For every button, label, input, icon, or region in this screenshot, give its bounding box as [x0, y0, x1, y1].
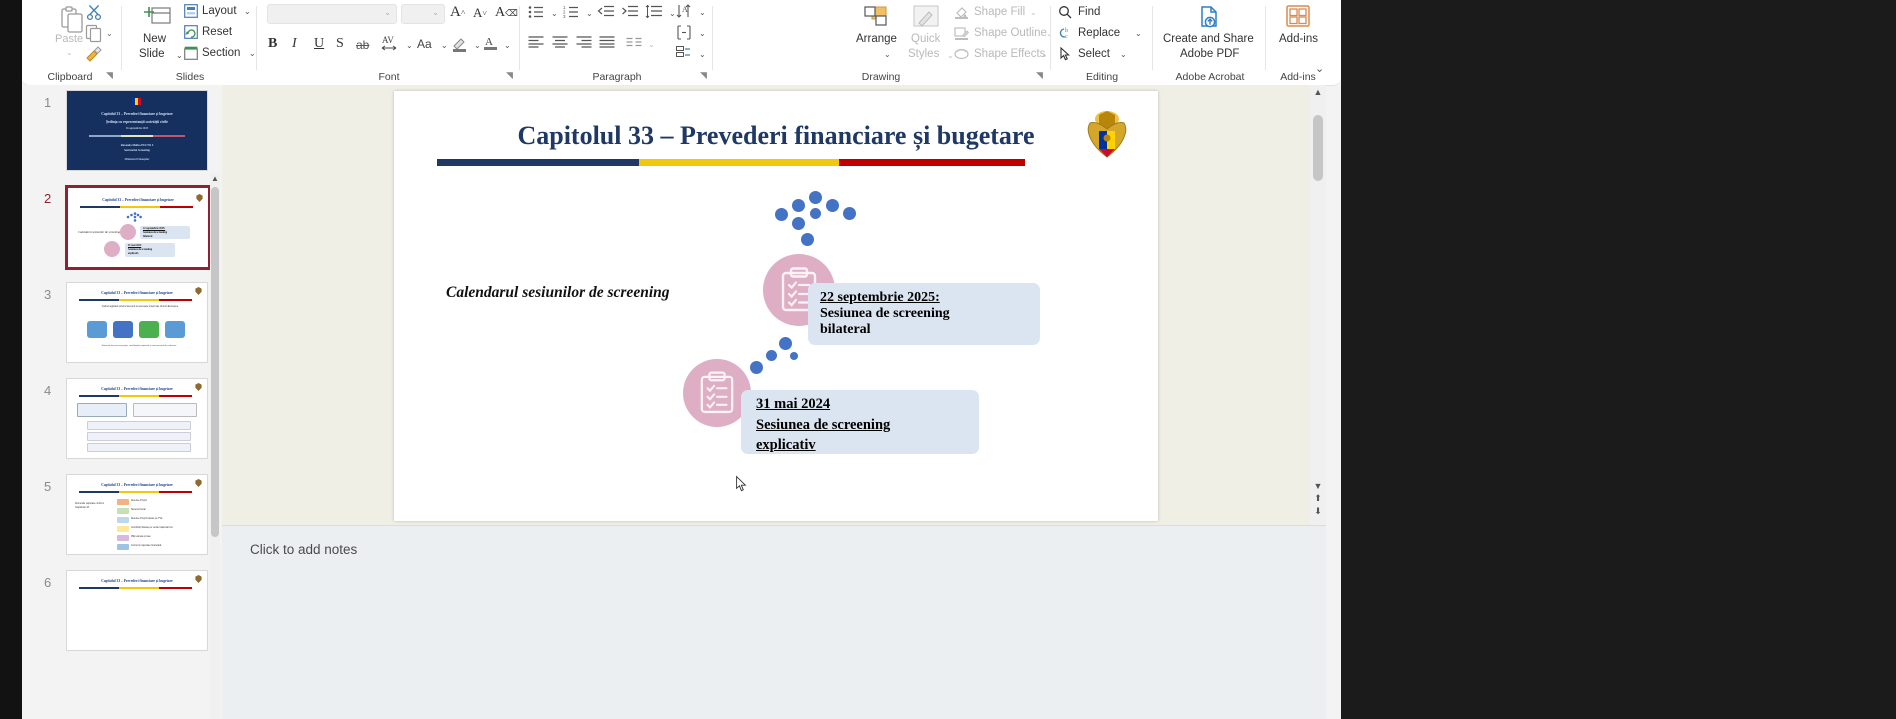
thumbnail-3-title: Capitolul 33 – Prevederi financiare și b… [77, 291, 197, 296]
thumbnail-number-2: 2 [44, 191, 51, 206]
underline-button[interactable]: U [314, 36, 324, 52]
add-ins-icon[interactable] [1285, 5, 1311, 29]
thumbnail-scroll-thumb[interactable] [211, 187, 219, 537]
thumbnail-row-1[interactable]: 1 Capitolul 33 – Prevederi financiare și… [22, 85, 222, 180]
bullets-icon[interactable] [528, 5, 544, 19]
shape-effects-label[interactable]: Shape Effects [974, 48, 1045, 60]
italic-button[interactable]: I [292, 36, 297, 52]
arrange-chevron-icon[interactable]: ⌄ [884, 50, 891, 59]
thumbnail-number-6: 6 [44, 575, 51, 590]
cut-icon[interactable] [86, 4, 103, 21]
meeting-panel: Elena Coban ? Neverificat [1341, 0, 1896, 719]
moldova-coat-of-arms-icon [1084, 107, 1130, 163]
ribbon-group-clipboard: Paste ⌄ ⌄ Clipboard ◥ [22, 0, 118, 85]
align-text-icon[interactable] [676, 25, 692, 40]
new-slide-label-line2: Slide [139, 48, 165, 60]
align-text-chevron-icon[interactable]: ⌄ [699, 29, 706, 38]
numbering-chevron-icon[interactable]: ⌄ [586, 9, 593, 18]
reset-icon[interactable] [184, 25, 198, 39]
thumbnail-6-title: Capitolul 33 – Prevederi financiare și b… [77, 579, 197, 584]
thumbnail-slide-6[interactable]: Capitolul 33 – Prevederi financiare și b… [66, 570, 208, 651]
ribbon-group-acrobat: Create and Share Adobe PDF Adobe Acrobat [1156, 0, 1264, 85]
shape-outline-label[interactable]: Shape Outline [974, 27, 1047, 39]
thumbnail-row-3[interactable]: 3 Capitolul 33 – Prevederi financiare și… [22, 277, 222, 372]
shrink-font-icon[interactable]: A˅ [473, 5, 487, 21]
svg-text:3: 3 [563, 14, 566, 19]
thumbnail-5-title: Capitolul 33 – Prevederi financiare și b… [77, 483, 197, 488]
ribbon-group-slides: New Slide ⌄ Layout ⌄ Reset Section ⌄ Sli… [127, 0, 253, 85]
ribbon-group-label-font: Font [262, 71, 516, 83]
add-ins-label[interactable]: Add-ins [1279, 33, 1318, 45]
quick-styles-label-line2[interactable]: Styles [908, 48, 939, 60]
arrange-icon[interactable] [863, 5, 891, 29]
slide-vertical-scrollbar[interactable]: ▲ ▼ ⬆ ⬇ [1310, 85, 1326, 525]
thumbnail-1-footer3: Ministerul Finanțelor [77, 158, 197, 162]
font-dialog-launcher[interactable]: ◥ [506, 70, 513, 81]
slide-title[interactable]: Capitolul 33 – Prevederi financiare și b… [394, 121, 1158, 151]
bold-button[interactable]: B [268, 36, 277, 52]
replace-chevron-icon[interactable]: ⌄ [1135, 29, 1142, 38]
ribbon-divider [256, 6, 257, 70]
scroll-thumb[interactable] [1313, 115, 1323, 181]
screen: Paste ⌄ ⌄ Clipboard ◥ [0, 0, 1896, 719]
thumbnail-slide-2[interactable]: Capitolul 33 – Prevederi financiare și b… [65, 185, 211, 270]
thumbnail-row-2[interactable]: 2 Capitolul 33 – Prevederi financiare și… [22, 181, 222, 276]
thumbnail-1-date: 16 septembrie 2025 [77, 127, 197, 131]
replace-label[interactable]: Replace [1078, 27, 1120, 39]
thumbnail-1-subtitle: Ședința cu reprezentanții societății civ… [77, 120, 197, 125]
clipboard-options-chevron-icon[interactable]: ⌄ [106, 29, 113, 38]
ribbon: Paste ⌄ ⌄ Clipboard ◥ [22, 0, 1341, 86]
thumbnail-2-title: Capitolul 33 – Prevederi financiare și b… [78, 198, 198, 203]
new-slide-icon[interactable] [144, 5, 172, 31]
thumbnail-1-title: Capitolul 33 – Prevederi financiare și b… [77, 112, 197, 117]
text-shadow-button[interactable]: S [336, 36, 344, 52]
justify-icon[interactable] [599, 36, 615, 48]
thumbnail-number-5: 5 [44, 479, 51, 494]
format-painter-icon[interactable] [85, 45, 103, 63]
text-direction-icon[interactable]: A [676, 4, 692, 19]
title-rule-blue [437, 159, 639, 166]
ribbon-group-label-acrobat: Adobe Acrobat [1156, 71, 1264, 83]
shape-fill-chevron-icon[interactable]: ⌄ [1030, 8, 1037, 17]
character-spacing-chevron-icon[interactable]: ⌄ [406, 41, 413, 50]
shape-effects-chevron-icon[interactable]: ⌄ [1041, 50, 1048, 59]
layout-icon[interactable] [184, 4, 198, 18]
ribbon-group-drawing: A [716, 0, 1046, 85]
paste-dropdown-icon[interactable]: ⌄ [66, 48, 73, 57]
strikethrough-button[interactable]: ab [356, 38, 369, 52]
callout-1-date: 22 septembrie 2025: [820, 290, 940, 306]
current-slide[interactable]: Capitolul 33 – Prevederi financiare și b… [394, 91, 1158, 521]
copy-icon[interactable] [85, 24, 103, 42]
clipboard-dialog-launcher[interactable]: ◥ [106, 70, 113, 81]
new-slide-label-line1: New [143, 33, 166, 45]
find-label[interactable]: Find [1078, 6, 1100, 18]
thumbnail-scroll-up-arrow[interactable]: ▲ [210, 174, 220, 183]
columns-icon[interactable] [626, 37, 642, 48]
desktop-background-left [0, 0, 22, 719]
select-icon[interactable] [1059, 47, 1072, 61]
callout-2-line2: Sesiunea de screening [756, 417, 890, 434]
section-icon[interactable] [184, 46, 198, 60]
ribbon-group-label-clipboard: Clipboard [22, 71, 118, 83]
title-rule-red [839, 159, 1025, 166]
layout-chevron-icon[interactable]: ⌄ [244, 7, 251, 16]
columns-chevron-icon[interactable]: ⌄ [648, 40, 655, 49]
thumbnail-2-dots [124, 212, 142, 222]
ribbon-group-label-drawing: Drawing [716, 71, 1046, 83]
quick-styles-chevron-icon[interactable]: ⌄ [947, 51, 954, 60]
shape-fill-label[interactable]: Shape Fill [974, 6, 1025, 18]
font-color-chevron-icon[interactable]: ⌄ [504, 41, 511, 50]
drawing-dialog-launcher[interactable]: ◥ [1036, 70, 1043, 81]
font-color-icon[interactable]: A [483, 34, 499, 52]
create-share-adobe-pdf-line1[interactable]: Create and Share [1163, 33, 1254, 45]
line-spacing-chevron-icon[interactable]: ⌄ [669, 9, 676, 18]
ribbon-divider [712, 6, 713, 70]
ribbon-divider [519, 6, 520, 70]
arrange-label[interactable]: Arrange [856, 33, 897, 45]
create-share-adobe-pdf-line2[interactable]: Adobe PDF [1180, 48, 1239, 60]
ribbon-group-label-editing: Editing [1054, 71, 1150, 83]
ribbon-divider [1265, 6, 1266, 70]
change-case-button[interactable]: Aa [417, 37, 432, 51]
shape-fill-icon[interactable] [954, 5, 969, 19]
grow-font-icon[interactable]: A˄ [450, 4, 465, 21]
ribbon-divider [121, 6, 122, 70]
thumbnail-slide-4[interactable]: Capitolul 33 – Prevederi financiare și b… [66, 378, 208, 459]
moldova-flag-icon [132, 98, 141, 105]
previous-slide-button[interactable]: ⬆ [1310, 493, 1326, 504]
select-chevron-icon[interactable]: ⌄ [1120, 50, 1127, 59]
find-icon[interactable] [1058, 5, 1073, 19]
thumbnail-2-left-label: Calendarul sesiunilor de screening [78, 230, 120, 234]
ribbon-group-font: ⌄ ⌄ A˄ A˅ A⌫ B I U S ab AV ⌄ Aa ⌄ [262, 0, 516, 85]
thumbnail-number-3: 3 [44, 287, 51, 302]
thumbnail-1-footer1: Ruxanda Malico EUCTO 4 [77, 144, 197, 148]
svg-text:AV: AV [382, 35, 394, 45]
scroll-down-arrow[interactable]: ▼ [1310, 481, 1326, 491]
ribbon-group-label-slides: Slides [127, 71, 253, 83]
create-share-adobe-pdf-icon[interactable] [1196, 5, 1222, 31]
quick-styles-label-line1[interactable]: Quick [911, 33, 940, 45]
scroll-up-arrow[interactable]: ▲ [1310, 87, 1326, 97]
slide-left-label[interactable]: Calendarul sesiunilor de screening [446, 284, 716, 302]
reset-label[interactable]: Reset [202, 26, 232, 38]
title-rule-yellow [639, 159, 839, 166]
svg-text:c: c [1065, 34, 1068, 40]
line-spacing-icon[interactable] [646, 5, 662, 19]
character-spacing-button[interactable]: AV [380, 34, 400, 52]
paragraph-dialog-launcher[interactable]: ◥ [700, 70, 707, 81]
numbering-icon[interactable]: 123 [563, 5, 579, 19]
svg-text:A: A [485, 36, 493, 48]
shape-effects-icon[interactable] [954, 47, 969, 61]
thumbnail-row-5[interactable]: 5 Capitolul 33 – Prevederi financiare și… [22, 469, 222, 564]
convert-smartart-chevron-icon[interactable]: ⌄ [699, 50, 706, 59]
section-chevron-icon[interactable]: ⌄ [249, 49, 256, 58]
ribbon-divider [1152, 6, 1153, 70]
convert-smartart-icon[interactable] [676, 46, 692, 60]
ribbon-group-paragraph: ⌄ 123 ⌄ ⌄ [524, 0, 710, 85]
change-case-chevron-icon[interactable]: ⌄ [441, 41, 448, 50]
slide-thumbnail-pane[interactable]: 1 Capitolul 33 – Prevederi financiare și… [22, 85, 222, 719]
decrease-indent-icon[interactable] [598, 5, 614, 19]
text-direction-chevron-icon[interactable]: ⌄ [699, 8, 706, 17]
bullets-chevron-icon[interactable]: ⌄ [551, 9, 558, 18]
slide-editing-canvas[interactable]: Capitolul 33 – Prevederi financiare și b… [222, 85, 1326, 525]
thumbnail-slide-1[interactable]: Capitolul 33 – Prevederi financiare și b… [66, 90, 208, 171]
ribbon-group-editing: Find bc Replace ⌄ Select ⌄ Editing [1054, 0, 1150, 85]
collapse-ribbon-chevron-icon[interactable]: ⌄ [1315, 62, 1324, 75]
callout-1[interactable]: 22 septembrie 2025: Sesiunea de screenin… [808, 283, 1040, 345]
notes-placeholder[interactable]: Click to add notes [250, 542, 357, 557]
thumbnail-number-4: 4 [44, 383, 51, 398]
highlight-chevron-icon[interactable]: ⌄ [474, 41, 481, 50]
mouse-cursor [736, 476, 747, 492]
callout-2-date: 31 mai 2024 [756, 396, 830, 413]
thumbnail-slide-5[interactable]: Capitolul 33 – Prevederi financiare și b… [66, 474, 208, 555]
paste-label: Paste [55, 33, 83, 45]
quick-styles-icon[interactable] [912, 5, 940, 29]
notes-pane[interactable]: Click to add notes [222, 525, 1326, 719]
thumbnail-number-1: 1 [44, 95, 51, 110]
thumbnail-slide-3[interactable]: Capitolul 33 – Prevederi financiare și b… [66, 282, 208, 363]
shape-outline-icon[interactable] [954, 26, 969, 40]
ribbon-divider [1050, 6, 1051, 70]
callout-1-line2: Sesiunea de screening [820, 306, 950, 322]
paste-icon[interactable] [60, 6, 86, 36]
thumbnail-row-4[interactable]: 4 Capitolul 33 – Prevederi financiare și… [22, 373, 222, 468]
font-name-input[interactable]: ⌄ [267, 4, 397, 24]
thumbnail-row-6[interactable]: 6 Capitolul 33 – Prevederi financiare și… [22, 565, 222, 660]
thumbnail-scrollbar[interactable]: ▲ ▼ [210, 173, 220, 719]
powerpoint-window: Paste ⌄ ⌄ Clipboard ◥ [22, 0, 1341, 719]
align-left-icon[interactable] [528, 36, 544, 48]
select-label[interactable]: Select [1078, 48, 1110, 60]
callout-1-line3: bilateral [820, 322, 871, 338]
callout-2-line3: explicativ [756, 437, 816, 454]
thumbnail-4-title: Capitolul 33 – Prevederi financiare și b… [77, 387, 197, 392]
font-name-chevron-icon[interactable]: ⌄ [384, 8, 391, 17]
ribbon-group-label-paragraph: Paragraph [524, 71, 710, 83]
thumbnail-2-coat-icon [196, 194, 203, 202]
replace-icon[interactable]: bc [1058, 26, 1073, 40]
callout-2[interactable]: 31 mai 2024 Sesiunea de screening explic… [741, 390, 979, 454]
increase-indent-icon[interactable] [622, 5, 638, 19]
align-right-icon[interactable] [576, 36, 592, 48]
new-slide-chevron-icon[interactable]: ⌄ [176, 51, 183, 60]
font-size-chevron-icon[interactable]: ⌄ [432, 8, 439, 17]
font-size-input[interactable]: ⌄ [401, 4, 445, 24]
section-label[interactable]: Section [202, 47, 240, 59]
align-center-icon[interactable] [552, 36, 568, 48]
layout-label[interactable]: Layout [202, 5, 237, 17]
thumbnail-1-footer2: Secretariat Screening [77, 149, 197, 153]
next-slide-button[interactable]: ⬇ [1310, 506, 1326, 517]
text-highlight-color-icon[interactable] [452, 35, 468, 53]
clear-formatting-icon[interactable]: A⌫ [495, 5, 518, 21]
